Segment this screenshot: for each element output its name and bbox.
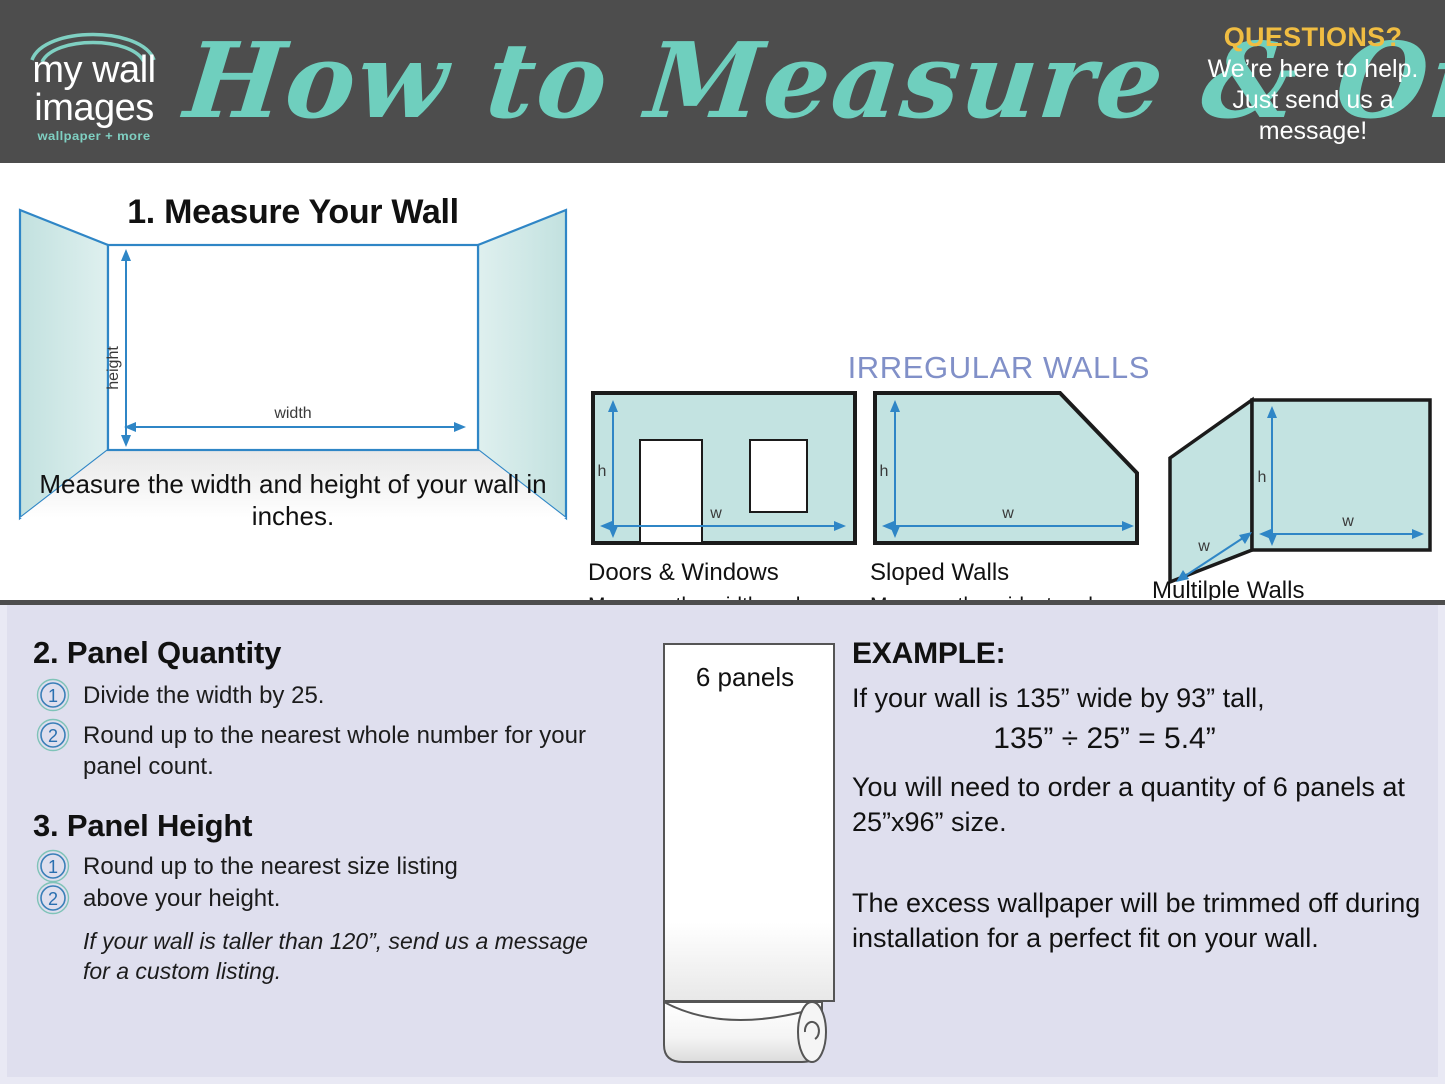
questions-block: QUESTIONS? We’re here to help. Just send… (1195, 22, 1431, 147)
list-item: 2 Round up to the nearest whole number f… (33, 720, 593, 782)
questions-body: We’re here to help. Just send us a messa… (1195, 54, 1431, 147)
page-title: How to Measure & Order (178, 6, 1184, 156)
example-line-3: The excess wallpaper will be trimmed off… (852, 886, 1427, 956)
step-text: Divide the width by 25. (83, 682, 324, 709)
example-calculation: 135” ÷ 25” = 5.4” (852, 720, 1427, 758)
example-column: EXAMPLE: If your wall is 135” wide by 93… (852, 637, 1427, 956)
wallpaper-roll-illustration: 6 panels (650, 640, 850, 1070)
step-number-text: 1 (48, 857, 58, 877)
example-line-1: If your wall is 135” wide by 93” tall, (852, 681, 1427, 716)
doors-windows-diagram: h w (588, 388, 858, 548)
list-item: 1 Divide the width by 25. (33, 680, 593, 711)
bottom-section: 2. Panel Quantity 1 Divide the width by … (0, 605, 1445, 1084)
step-text: above your height. (83, 885, 280, 912)
svg-text:w: w (1001, 505, 1014, 522)
example-line-2: You will need to order a quantity of 6 p… (852, 770, 1427, 840)
step-number-icon: 1 (33, 678, 73, 712)
step-number-text: 2 (48, 889, 58, 909)
step-number-text: 1 (48, 686, 58, 706)
svg-text:h: h (598, 463, 607, 480)
list-item: 2 above your height. (33, 883, 593, 914)
svg-text:h: h (1258, 469, 1267, 486)
step-text: Round up to the nearest whole number for… (83, 722, 586, 780)
svg-text:w: w (1341, 513, 1354, 530)
questions-heading: QUESTIONS? (1195, 22, 1431, 52)
irregular-walls-title: IRREGULAR WALLS (840, 350, 1150, 386)
step-number-icon: 2 (33, 881, 73, 915)
multiple-walls-diagram: h w w (1152, 388, 1438, 588)
svg-text:w: w (709, 505, 722, 522)
top-section: height width 1. Measure Your Wall Measur… (0, 163, 1445, 600)
svg-text:h: h (880, 463, 889, 480)
panel-height-title: 3. Panel Height (33, 808, 593, 844)
svg-text:w: w (1197, 538, 1210, 555)
logo-line-2: images (14, 88, 174, 128)
roll-graphic (650, 640, 850, 1070)
svg-text:width: width (273, 405, 311, 422)
step-text: Round up to the nearest size listing (83, 853, 458, 880)
step-number-text: 2 (48, 726, 58, 746)
step-number-icon: 2 (33, 718, 73, 752)
roll-label: 6 panels (650, 662, 840, 693)
list-item: 1 Round up to the nearest size listing (33, 851, 593, 882)
page-header: my wall images wallpaper + more How to M… (0, 0, 1445, 163)
steps-column: 2. Panel Quantity 1 Divide the width by … (33, 635, 593, 986)
panel-height-steps: 1 Round up to the nearest size listing 2… (33, 851, 593, 914)
brand-logo: my wall images wallpaper + more (14, 14, 174, 150)
logo-tagline: wallpaper + more (14, 128, 174, 142)
sloped-wall-diagram: h w (870, 388, 1140, 548)
step-number-icon: 1 (33, 849, 73, 883)
step-1-caption: Measure the width and height of your wal… (8, 468, 578, 532)
step-1-measure-wall: height width 1. Measure Your Wall Measur… (8, 173, 578, 543)
irregular-item-name: Doors & Windows (588, 559, 858, 587)
step-1-title: 1. Measure Your Wall (8, 193, 578, 232)
irregular-item-name: Sloped Walls (870, 559, 1140, 587)
panel-height-note: If your wall is taller than 120”, send u… (33, 926, 593, 986)
infographic-page: my wall images wallpaper + more How to M… (0, 0, 1445, 1084)
panel-quantity-steps: 1 Divide the width by 25. 2 Round up to … (33, 680, 593, 782)
example-title: EXAMPLE: (852, 637, 1427, 671)
panel-quantity-title: 2. Panel Quantity (33, 635, 593, 671)
svg-text:height: height (105, 346, 122, 390)
logo-line-1: my wall (14, 50, 174, 90)
